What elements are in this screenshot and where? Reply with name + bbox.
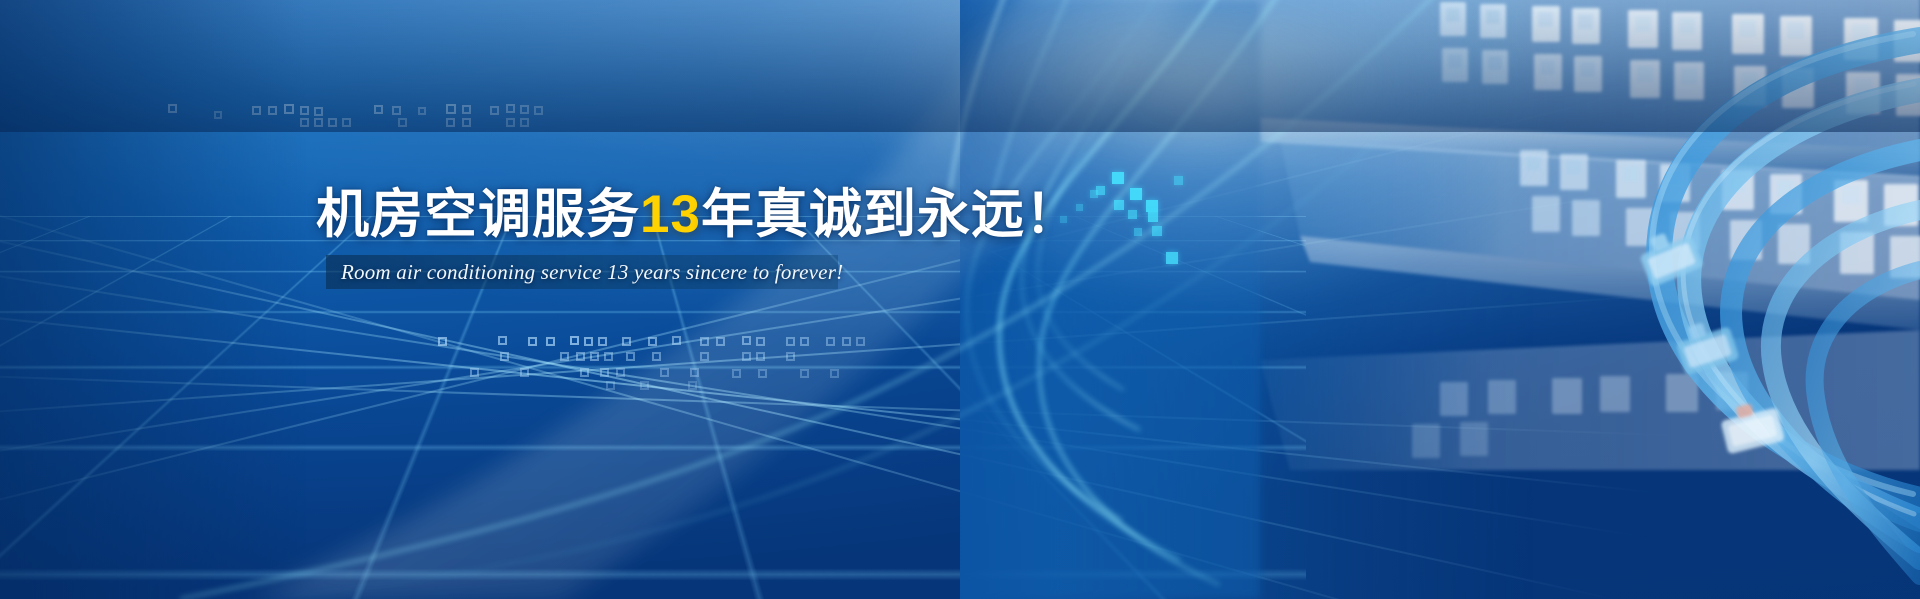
hero-banner: 机房空调服务13年真诚到永远！ Room air conditioning se… (0, 0, 1920, 599)
headline-part-2: 年真诚到永远！ (701, 185, 1079, 244)
banner-content: 机房空调服务13年真诚到永远！ Room air conditioning se… (0, 0, 1920, 599)
banner-subtitle: Room air conditioning service 13 years s… (341, 258, 841, 286)
banner-headline: 机房空调服务13年真诚到永远！ (316, 172, 1079, 248)
headline-part-1: 机房空调服务 (316, 185, 640, 244)
headline-highlight: 13 (640, 185, 701, 244)
